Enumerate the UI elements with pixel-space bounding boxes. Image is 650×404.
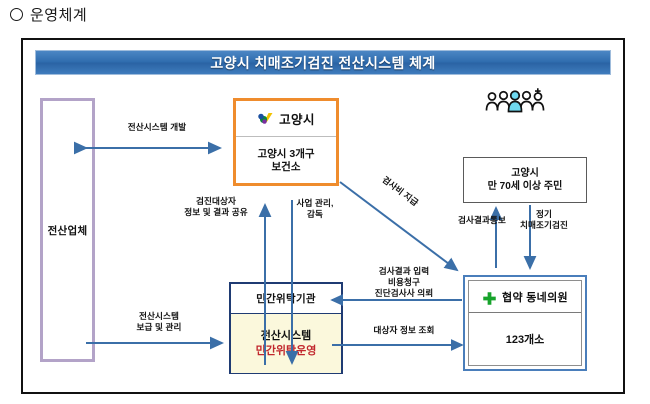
node-agency-body-line1: 전산시스템 (261, 329, 312, 344)
node-clinic-header: 협약 동네의원 (469, 281, 581, 313)
node-clinic-inner: 협약 동네의원 123개소 (468, 280, 582, 366)
edge-label-deploy: 전산시스템 보급 및 관리 (107, 311, 211, 333)
node-clinic-count: 123개소 (506, 331, 545, 347)
edge-label-notify: 검사결과통보 (451, 215, 513, 226)
node-agency: 민간위탁기관 전산시스템 민간위탁운영 (229, 282, 343, 374)
diagram-title-bar: 고양시 치매조기검진 전산시스템 체계 (35, 50, 611, 75)
node-vendor-label: 전산업체 (48, 223, 88, 238)
node-vendor: 전산업체 (40, 98, 95, 362)
node-residents: 고양시 만 70세 이상 주민 (463, 157, 587, 203)
edge-label-deploy-line2: 보급 및 관리 (107, 322, 211, 333)
edge-label-share-line1: 검진대상자 (174, 196, 258, 207)
node-agency-header-label: 민간위탁기관 (256, 291, 316, 306)
edge-label-screening-line1: 정기 (506, 209, 582, 220)
page-heading-text: 운영체계 (30, 7, 87, 24)
edge-label-result-line1: 검사결과 입력 (349, 266, 459, 277)
green-cross-icon (482, 291, 497, 306)
edge-label-deploy-line1: 전산시스템 (107, 311, 211, 322)
diagram-title: 고양시 치매조기검진 전산시스템 체계 (210, 53, 435, 73)
node-city-header-label: 고양시 (279, 109, 315, 128)
edge-label-mgmt-line2: 감독 (280, 209, 350, 220)
edge-label-screening-line2: 치매조기검진 (506, 220, 582, 231)
edge-label-share-line2: 정보 및 결과 공유 (174, 207, 258, 218)
edge-label-dev: 전산시스템 개발 (101, 122, 213, 133)
node-city-body-line1: 고양시 3개구 (257, 148, 314, 161)
node-city: 고양시 고양시 3개구 보건소 (233, 98, 339, 186)
node-agency-body: 전산시스템 민간위탁운영 (231, 314, 341, 373)
edge-label-share: 검진대상자 정보 및 결과 공유 (174, 196, 258, 218)
node-clinic: 협약 동네의원 123개소 (463, 275, 587, 371)
node-city-header: 고양시 (236, 101, 336, 137)
edge-label-screening: 정기 치매조기검진 (506, 209, 582, 231)
circle-bullet-icon (10, 8, 23, 21)
node-agency-body-line2: 민간위탁운영 (256, 344, 317, 359)
edge-label-mgmt-line1: 사업 관리, (280, 198, 350, 209)
node-clinic-header-label: 협약 동네의원 (502, 289, 568, 305)
page-heading: 운영체계 (10, 4, 87, 25)
edge-label-result-line3: 진단검사사 의뢰 (349, 288, 459, 299)
node-agency-header: 민간위탁기관 (231, 284, 341, 314)
edge-label-mgmt: 사업 관리, 감독 (280, 198, 350, 220)
goyang-city-logo-icon (257, 112, 274, 127)
node-residents-line1: 고양시 (511, 167, 539, 180)
edge-label-result: 검사결과 입력 비용청구 진단검사사 의뢰 (349, 266, 459, 300)
edge-label-query: 대상자 정보 조회 (353, 325, 455, 336)
node-clinic-body: 123개소 (469, 313, 581, 365)
node-residents-line2: 만 70세 이상 주민 (488, 180, 563, 193)
edge-label-result-line2: 비용청구 (349, 277, 459, 288)
node-city-body-line2: 보건소 (272, 161, 301, 174)
people-group-icon (483, 88, 547, 116)
node-city-body: 고양시 3개구 보건소 (236, 137, 336, 185)
